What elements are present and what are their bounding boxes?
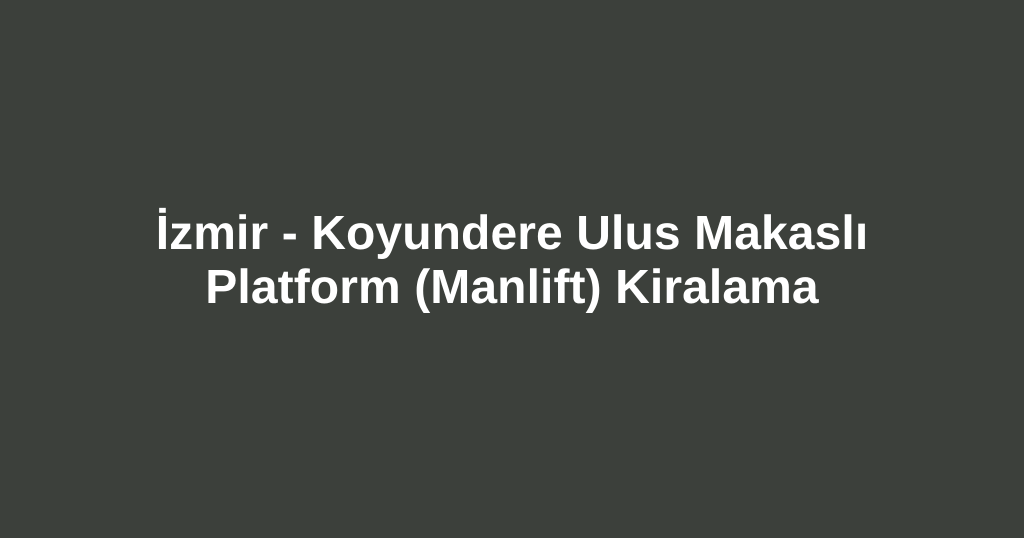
title-block: İzmir - Koyundere Ulus Makaslı Platform …: [0, 207, 1024, 315]
page-title-line-1: İzmir - Koyundere Ulus Makaslı: [60, 207, 964, 261]
page-title-line-2: Platform (Manlift) Kiralama: [60, 261, 964, 315]
og-share-card: İzmir - Koyundere Ulus Makaslı Platform …: [0, 0, 1024, 538]
page-title: İzmir - Koyundere Ulus Makaslı Platform …: [60, 207, 964, 315]
